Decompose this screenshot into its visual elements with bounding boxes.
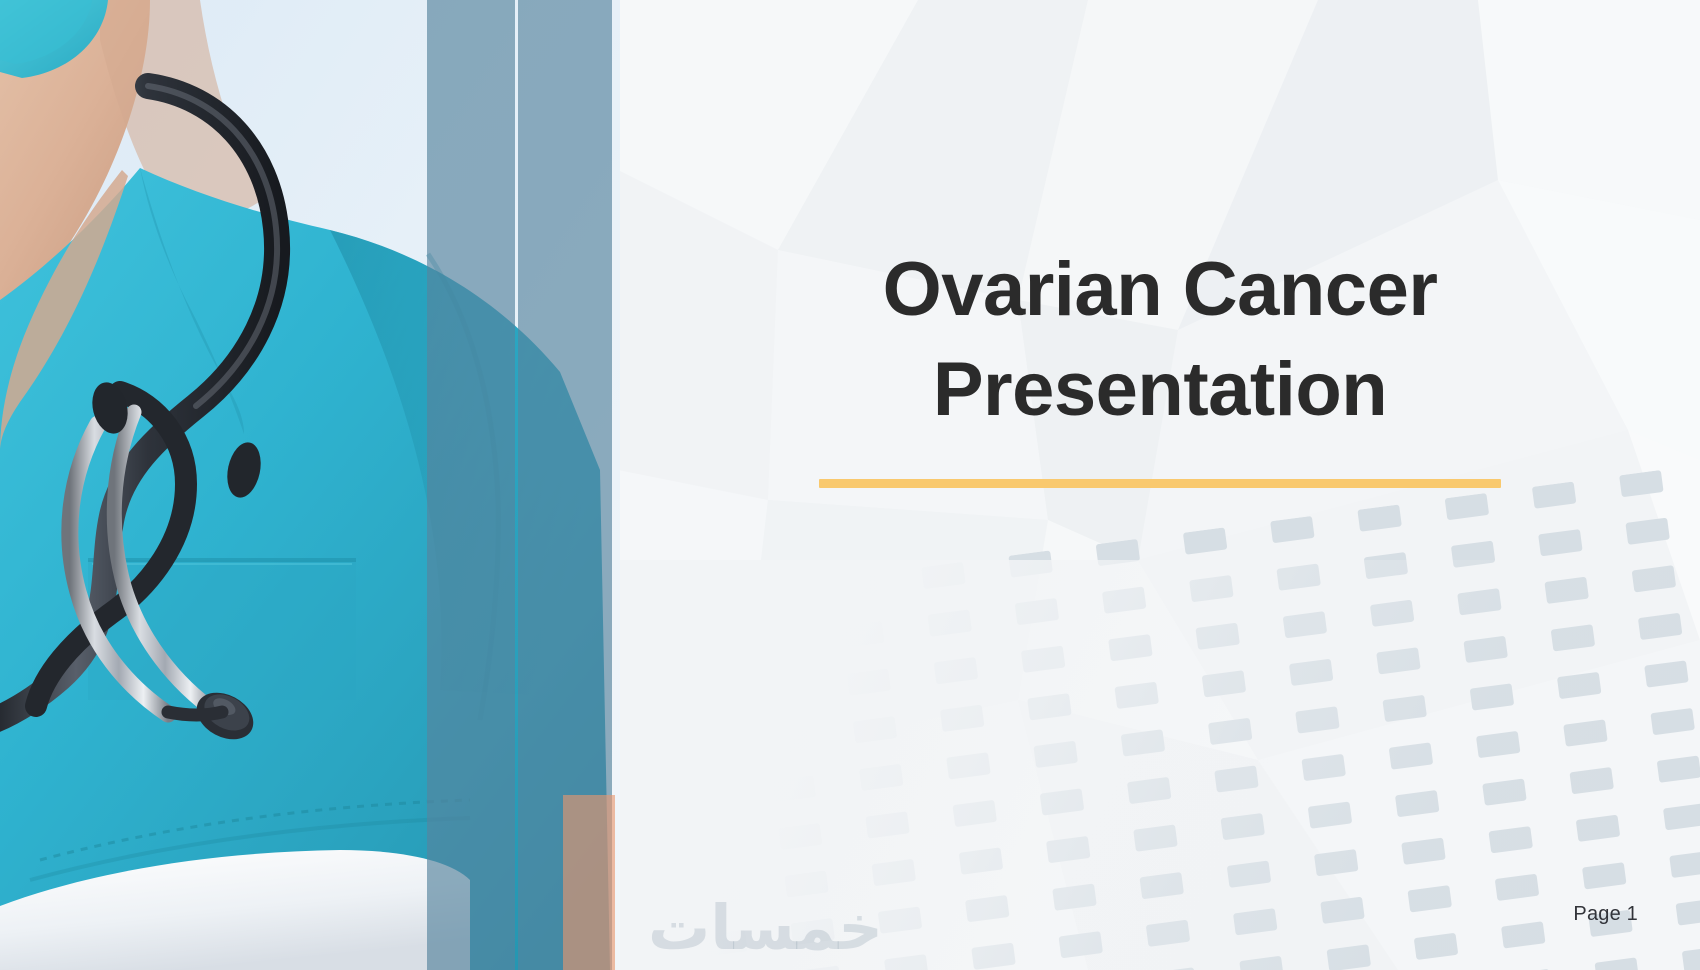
hero-photo bbox=[0, 0, 620, 970]
healthcare-worker-illustration bbox=[0, 0, 620, 970]
page-title: Ovarian Cancer Presentation bbox=[700, 240, 1620, 441]
title-accent-rule bbox=[819, 479, 1501, 488]
presentation-slide: Ovarian Cancer Presentation Page 1 خمسات bbox=[0, 0, 1700, 970]
title-block: Ovarian Cancer Presentation bbox=[700, 240, 1620, 488]
watermark-text: خمسات bbox=[648, 891, 883, 964]
page-number-label: Page 1 bbox=[1573, 903, 1638, 926]
